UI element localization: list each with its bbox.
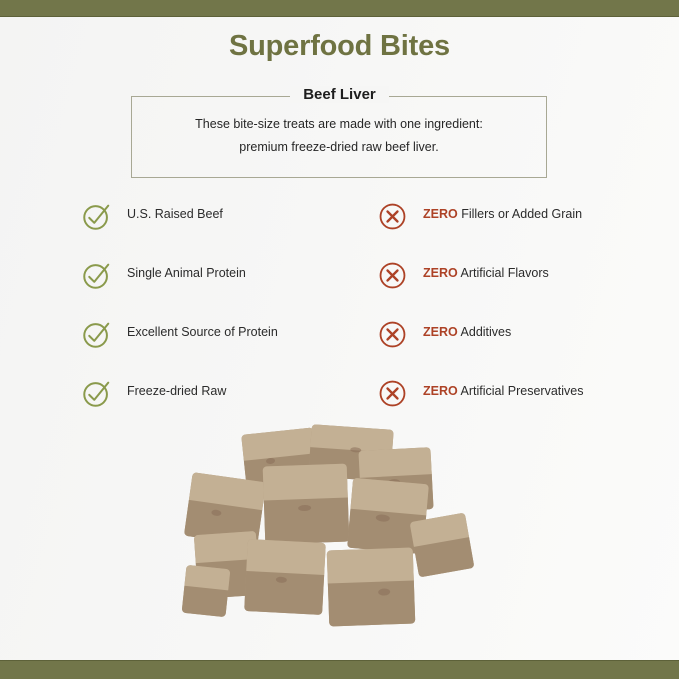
benefit-label: ZERO Artificial Preservatives	[423, 384, 583, 398]
benefit-row: Single Animal Protein	[82, 255, 382, 314]
benefit-label: Excellent Source of Protein	[127, 325, 278, 339]
benefit-label: ZERO Fillers or Added Grain	[423, 207, 582, 221]
zero-emphasis: ZERO	[423, 207, 458, 221]
benefit-label-text: Artificial Flavors	[461, 266, 549, 280]
info-box-line-2: premium freeze-dried raw beef liver.	[131, 136, 547, 159]
liver-cube	[410, 513, 475, 578]
x-circle-icon	[378, 202, 407, 231]
benefits-column-right: ZERO Fillers or Added Grain ZERO Artific…	[378, 196, 678, 432]
x-circle-icon	[378, 379, 407, 408]
benefit-row: ZERO Additives	[378, 314, 678, 373]
benefit-label-text: Artificial Preservatives	[461, 384, 584, 398]
info-box-label: Beef Liver	[0, 84, 679, 106]
benefit-row: ZERO Fillers or Added Grain	[378, 196, 678, 255]
info-box-description: These bite-size treats are made with one…	[131, 113, 547, 159]
check-circle-icon	[82, 202, 111, 231]
benefit-row: Freeze-dried Raw	[82, 373, 382, 432]
x-circle-icon	[378, 261, 407, 290]
benefit-label: ZERO Additives	[423, 325, 511, 339]
benefit-label: ZERO Artificial Flavors	[423, 266, 549, 280]
check-circle-icon	[82, 320, 111, 349]
benefit-row: ZERO Artificial Flavors	[378, 255, 678, 314]
liver-cube	[182, 565, 231, 617]
benefit-label: U.S. Raised Beef	[127, 207, 223, 221]
zero-emphasis: ZERO	[423, 325, 458, 339]
infographic-page: Superfood Bites Beef Liver These bite-si…	[0, 0, 679, 679]
check-circle-icon	[82, 379, 111, 408]
x-circle-icon	[378, 320, 407, 349]
liver-cube-pile	[182, 425, 482, 650]
check-circle-icon	[82, 261, 111, 290]
benefit-label: Single Animal Protein	[127, 266, 246, 280]
benefit-label: Freeze-dried Raw	[127, 384, 226, 398]
benefit-label-text: Fillers or Added Grain	[461, 207, 582, 221]
liver-cube	[263, 464, 350, 545]
bottom-accent-bar	[0, 660, 679, 679]
info-box-line-1: These bite-size treats are made with one…	[131, 113, 547, 136]
info-box-label-text: Beef Liver	[290, 86, 389, 103]
benefit-row: Excellent Source of Protein	[82, 314, 382, 373]
liver-cube	[327, 548, 416, 627]
benefit-row: U.S. Raised Beef	[82, 196, 382, 255]
benefit-label-text: Additives	[461, 325, 512, 339]
zero-emphasis: ZERO	[423, 266, 458, 280]
benefit-row: ZERO Artificial Preservatives	[378, 373, 678, 432]
top-accent-bar	[0, 0, 679, 17]
liver-cube	[244, 539, 326, 615]
benefits-column-left: U.S. Raised Beef Single Animal Protein	[82, 196, 382, 432]
product-photo	[0, 425, 679, 660]
zero-emphasis: ZERO	[423, 384, 458, 398]
page-title: Superfood Bites	[0, 30, 679, 63]
